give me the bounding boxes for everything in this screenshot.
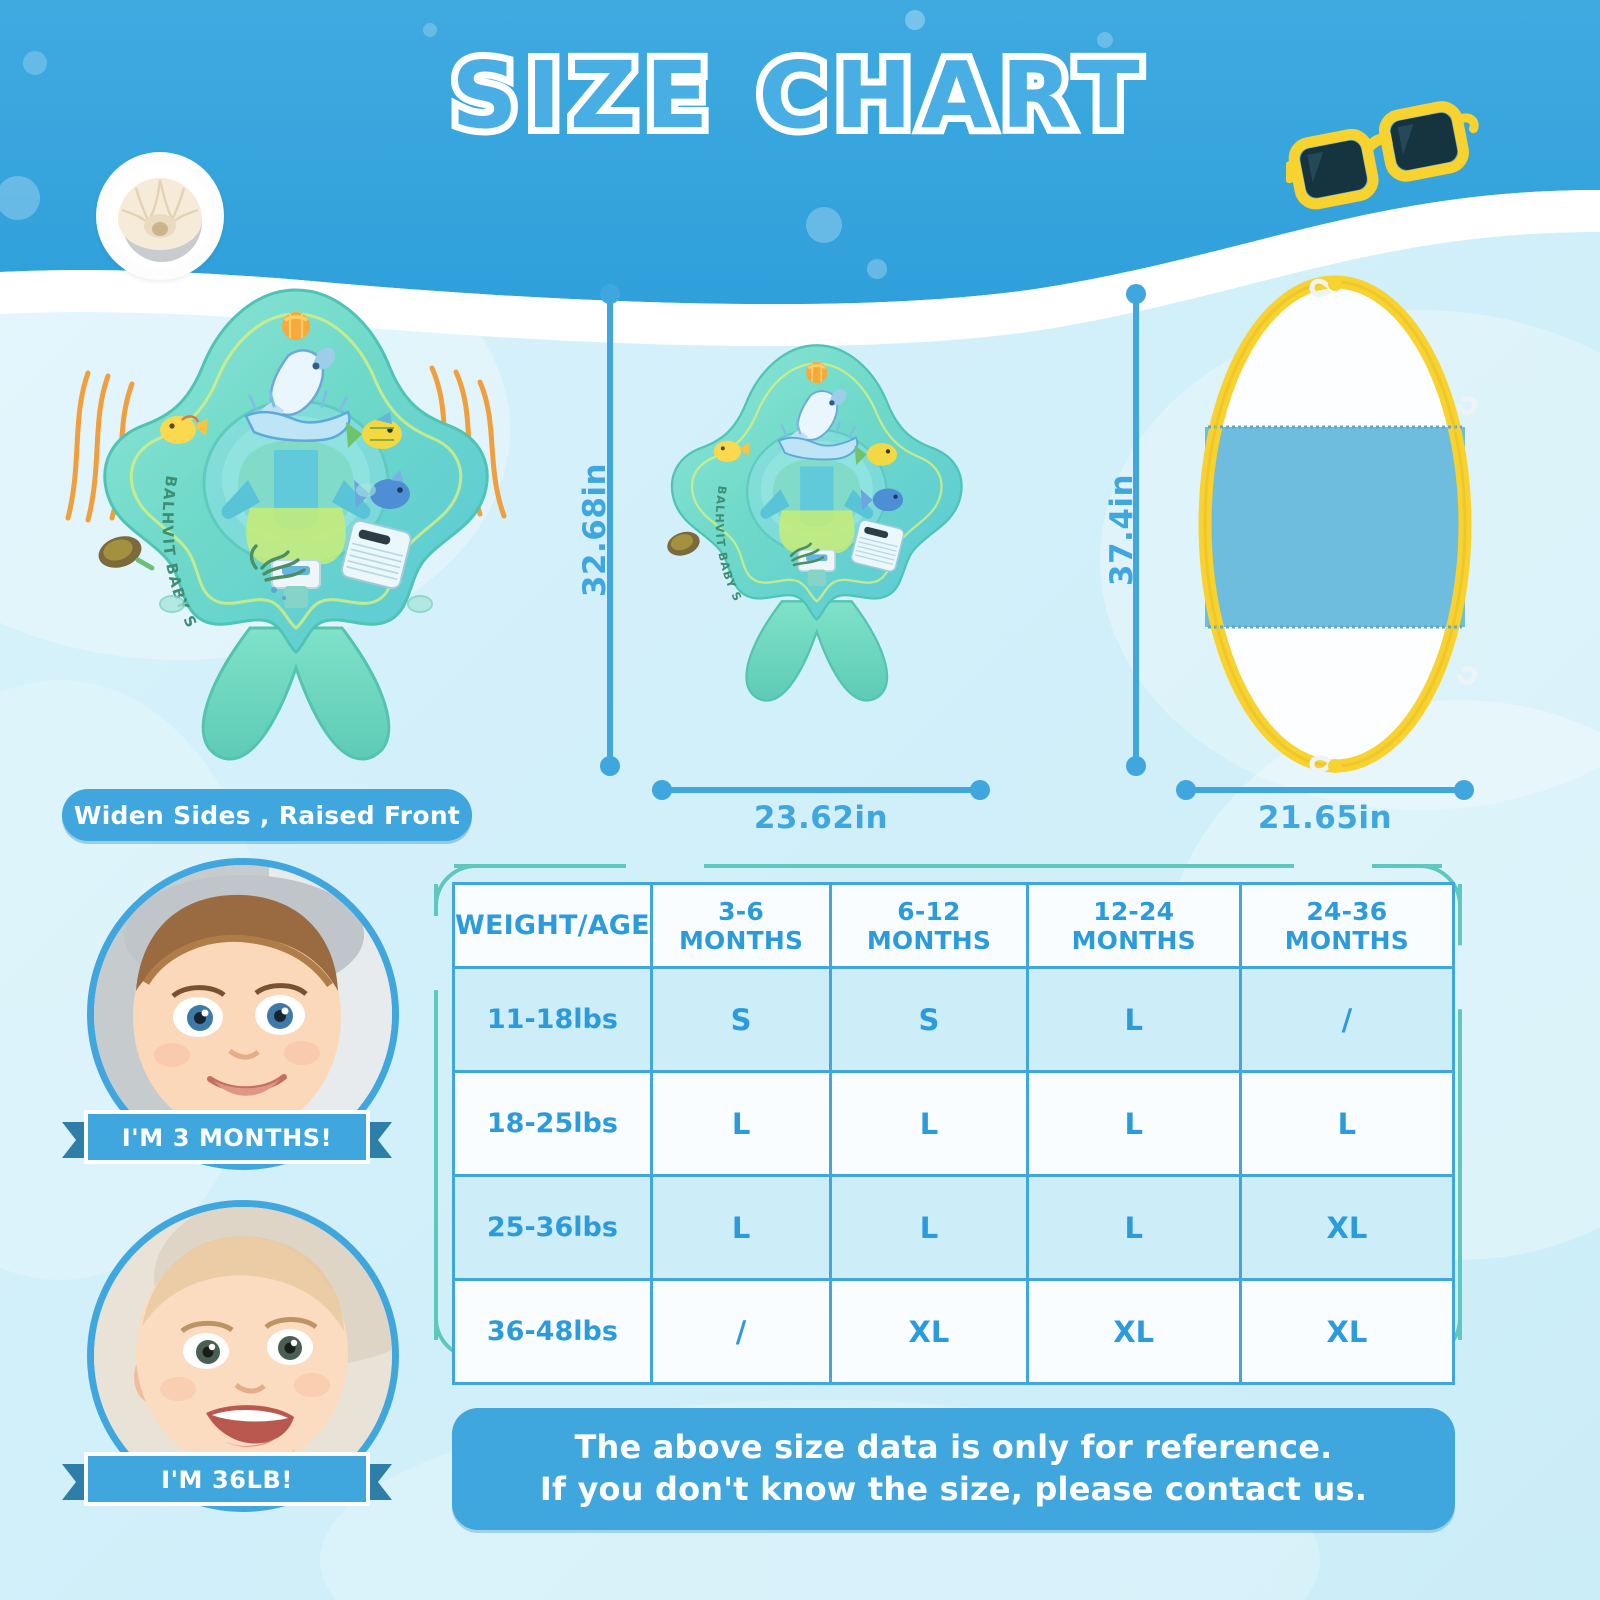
sunglasses-icon <box>1286 96 1486 226</box>
baby-banner-label-1: I'M 3 MONTHS! <box>62 1110 392 1166</box>
row-weight: 18-25lbs <box>454 1072 652 1176</box>
feature-caption-pill: Widen Sides , Raised Front <box>62 789 472 841</box>
size-chart-table: WEIGHT/AGE 3-6 MONTHS 6-12 MONTHS 12-24 … <box>452 882 1455 1385</box>
size-cell: L <box>831 1072 1027 1176</box>
col-header-3-6: 3-6 MONTHS <box>651 884 831 968</box>
size-cell: L <box>1027 968 1240 1072</box>
size-cell: L <box>1240 1072 1453 1176</box>
table-row: 25-36lbs L L L XL <box>454 1176 1454 1280</box>
dim-label-canopy-width: 21.65in <box>1176 800 1474 836</box>
col-header-12-24: 12-24 MONTHS <box>1027 884 1240 968</box>
dim-line-horizontal <box>660 787 978 793</box>
seashell-badge <box>96 152 224 280</box>
baby-card-36lb: I'M 36LB! <box>78 1200 408 1512</box>
dim-label-float-height: 32.68in <box>577 440 613 620</box>
row-weight: 11-18lbs <box>454 968 652 1072</box>
baby-banner-2: I'M 36LB! <box>62 1452 392 1508</box>
size-cell: / <box>651 1280 831 1384</box>
product-float-front: BALHVIT BABY SWIMMING FLOAT <box>638 268 994 768</box>
dim-dot-right <box>970 780 990 800</box>
size-cell: L <box>1027 1072 1240 1176</box>
footer-line-1: The above size data is only for referenc… <box>575 1427 1333 1469</box>
seashell-icon <box>106 162 214 270</box>
size-cell: S <box>651 968 831 1072</box>
size-cell: XL <box>1240 1176 1453 1280</box>
baby-card-3-months: I'M 3 MONTHS! <box>78 858 408 1170</box>
dim-dot-bottom <box>600 756 620 776</box>
feature-caption-text: Widen Sides , Raised Front <box>74 801 460 830</box>
size-cell: L <box>1027 1176 1240 1280</box>
dim-line-horizontal <box>1184 787 1462 793</box>
product-float-angled: BALHVIT BABY SWIMMING FLOAT <box>60 268 530 768</box>
size-cell: L <box>651 1072 831 1176</box>
size-cell: XL <box>831 1280 1027 1384</box>
size-cell: L <box>831 1176 1027 1280</box>
dim-label-canopy-height: 37.4in <box>1104 440 1140 620</box>
dim-dot-bottom <box>1126 756 1146 776</box>
product-sun-canopy <box>1190 272 1480 782</box>
col-header-24-36: 24-36 MONTHS <box>1240 884 1453 968</box>
footer-note-pill: The above size data is only for referenc… <box>452 1408 1455 1530</box>
size-cell: XL <box>1240 1280 1453 1384</box>
baby-banner-1: I'M 3 MONTHS! <box>62 1110 392 1166</box>
baby-banner-label-2: I'M 36LB! <box>62 1452 392 1508</box>
dim-label-float-width: 23.62in <box>652 800 990 836</box>
col-header-6-12: 6-12 MONTHS <box>831 884 1027 968</box>
table-header-row: WEIGHT/AGE 3-6 MONTHS 6-12 MONTHS 12-24 … <box>454 884 1454 968</box>
size-cell: L <box>651 1176 831 1280</box>
table-row: 11-18lbs S S L / <box>454 968 1454 1072</box>
size-cell: S <box>831 968 1027 1072</box>
col-header-weight-age: WEIGHT/AGE <box>454 884 652 968</box>
row-weight: 25-36lbs <box>454 1176 652 1280</box>
dim-dot-right <box>1454 780 1474 800</box>
page-title: SIZE CHART <box>451 42 1148 149</box>
footer-line-2: If you don't know the size, please conta… <box>540 1469 1367 1511</box>
size-cell: / <box>1240 968 1453 1072</box>
size-cell: XL <box>1027 1280 1240 1384</box>
table-row: 36-48lbs / XL XL XL <box>454 1280 1454 1384</box>
table-row: 18-25lbs L L L L <box>454 1072 1454 1176</box>
row-weight: 36-48lbs <box>454 1280 652 1384</box>
